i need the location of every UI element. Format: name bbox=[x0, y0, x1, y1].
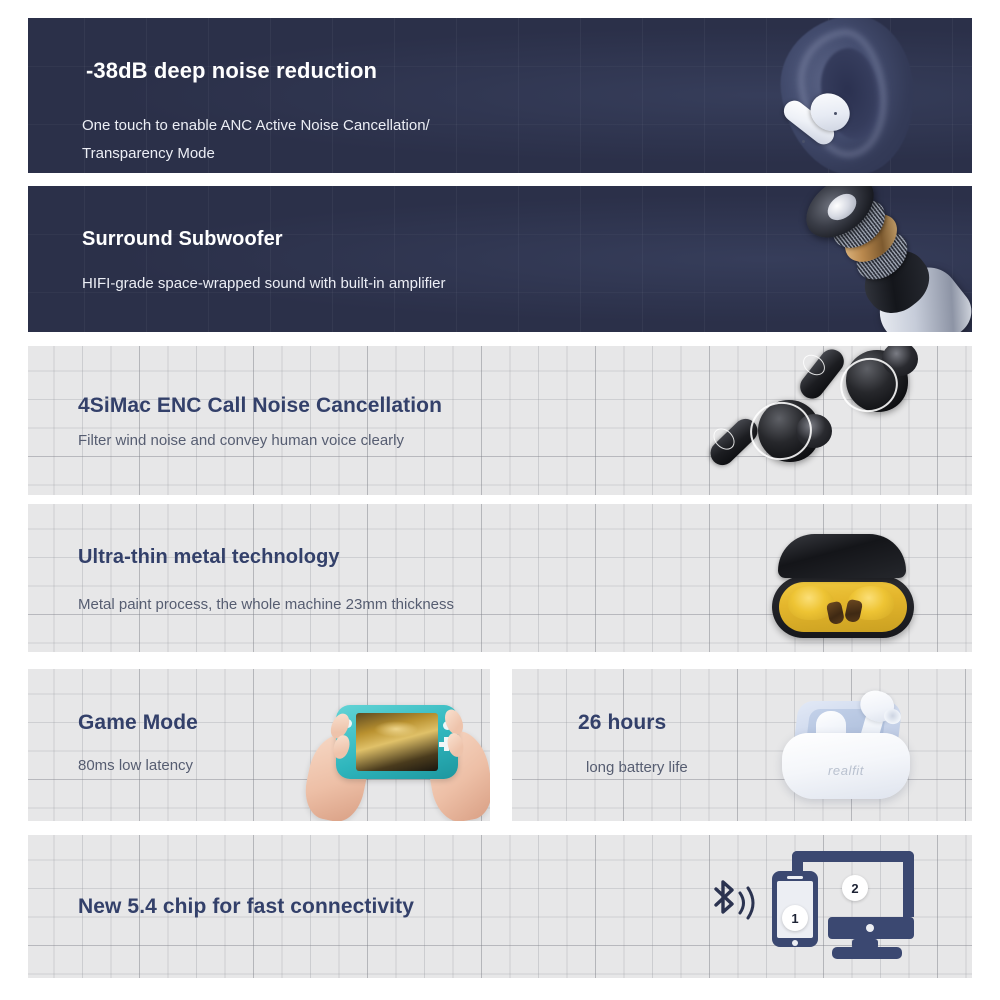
panel-surround-subwoofer: Surround Subwoofer HIFI-grade space-wrap… bbox=[28, 186, 972, 332]
panel-subtitle: Filter wind noise and convey human voice… bbox=[78, 432, 404, 449]
panel-subtitle: HIFI-grade space-wrapped sound with buil… bbox=[82, 275, 446, 292]
handheld-game-console-photo bbox=[312, 691, 490, 821]
panel-battery-life: realfit 26 hours long battery life bbox=[512, 669, 972, 821]
phone-home-button-icon bbox=[792, 940, 798, 946]
panel-title: 26 hours bbox=[578, 711, 666, 735]
device-badge-2: 2 bbox=[842, 875, 868, 901]
panel-bluetooth-connectivity: 1 2 New 5.4 chip for fast connectivity bbox=[28, 835, 972, 978]
phone-speaker-icon bbox=[787, 876, 803, 879]
white-charging-case-photo: realfit bbox=[774, 685, 924, 809]
device-badge-1: 1 bbox=[782, 905, 808, 931]
panel-title: 4SiMac ENC Call Noise Cancellation bbox=[78, 394, 442, 418]
panel-title: Game Mode bbox=[78, 711, 198, 735]
panel-subtitle: 80ms low latency bbox=[78, 757, 193, 774]
panel-subtitle: Metal paint process, the whole machine 2… bbox=[78, 596, 454, 613]
bluetooth-signal-waves-icon bbox=[736, 883, 760, 923]
panel-game-mode: Game Mode 80ms low latency bbox=[28, 669, 490, 821]
panel-ultra-thin-metal: Ultra-thin metal technology Metal paint … bbox=[28, 504, 972, 652]
monitor-indicator-icon bbox=[866, 924, 874, 932]
ear-with-earbud-photo bbox=[736, 18, 966, 173]
monitor-stand-foot-icon bbox=[832, 947, 902, 959]
panel-title: Surround Subwoofer bbox=[82, 228, 283, 251]
open-charging-case-photo bbox=[772, 532, 922, 644]
panel-enc-call-noise-cancellation: 4SiMac ENC Call Noise Cancellation Filte… bbox=[28, 346, 972, 495]
black-earbuds-photo bbox=[730, 346, 960, 495]
panel-subtitle-line1: One touch to enable ANC Active Noise Can… bbox=[82, 112, 430, 140]
panel-subtitle-line2: Transparency Mode bbox=[82, 140, 430, 168]
panel-subtitle: long battery life bbox=[586, 759, 688, 776]
exploded-speaker-driver-photo bbox=[778, 186, 972, 332]
panel-title: New 5.4 chip for fast connectivity bbox=[78, 895, 414, 919]
panel-title: Ultra-thin metal technology bbox=[78, 546, 340, 569]
panel-noise-reduction: -38dB deep noise reduction One touch to … bbox=[28, 18, 972, 173]
case-brand-label: realfit bbox=[782, 763, 910, 778]
panel-title: -38dB deep noise reduction bbox=[86, 58, 377, 84]
product-feature-page: -38dB deep noise reduction One touch to … bbox=[0, 0, 1000, 1000]
bluetooth-multipoint-devices-graphic: 1 2 bbox=[700, 843, 962, 978]
